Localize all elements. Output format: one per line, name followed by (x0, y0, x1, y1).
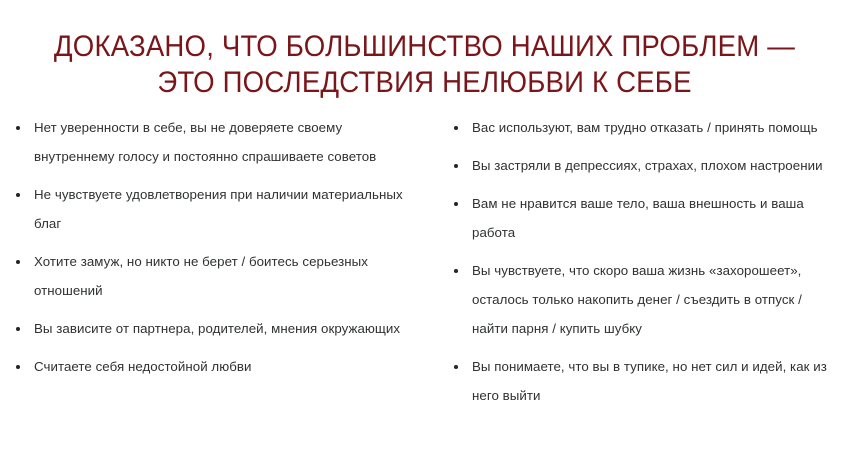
list-item: Вы зависите от партнера, родителей, мнен… (14, 314, 408, 343)
list-item: Вы чувствуете, что скоро ваша жизнь «зах… (452, 256, 831, 343)
right-column: Вас используют, вам трудно отказать / пр… (430, 113, 849, 410)
list-item: Нет уверенности в себе, вы не доверяете … (14, 113, 408, 171)
page-title: Доказано, что большинство наших проблем … (34, 29, 815, 101)
list-item: Вас используют, вам трудно отказать / пр… (452, 113, 831, 142)
page-title-line-2: это последствия нелюбви к себе (34, 65, 815, 101)
page-title-line-1: Доказано, что большинство наших проблем … (34, 29, 815, 65)
list-item: Считаете себя недостойной любви (14, 352, 408, 381)
list-item: Не чувствуете удовлетворения при наличии… (14, 180, 408, 238)
list-item: Вам не нравится ваше тело, ваша внешност… (452, 189, 831, 247)
slide-root: Доказано, что большинство наших проблем … (0, 0, 849, 450)
two-column-layout: Нет уверенности в себе, вы не доверяете … (0, 113, 849, 410)
left-column: Нет уверенности в себе, вы не доверяете … (0, 113, 430, 381)
list-item: Вы застряли в депрессиях, страхах, плохо… (452, 151, 831, 180)
list-item: Вы понимаете, что вы в тупике, но нет си… (452, 352, 831, 410)
list-item: Хотите замуж, но никто не берет / боитес… (14, 247, 408, 305)
left-bullet-list: Нет уверенности в себе, вы не доверяете … (14, 113, 408, 381)
right-bullet-list: Вас используют, вам трудно отказать / пр… (452, 113, 831, 410)
